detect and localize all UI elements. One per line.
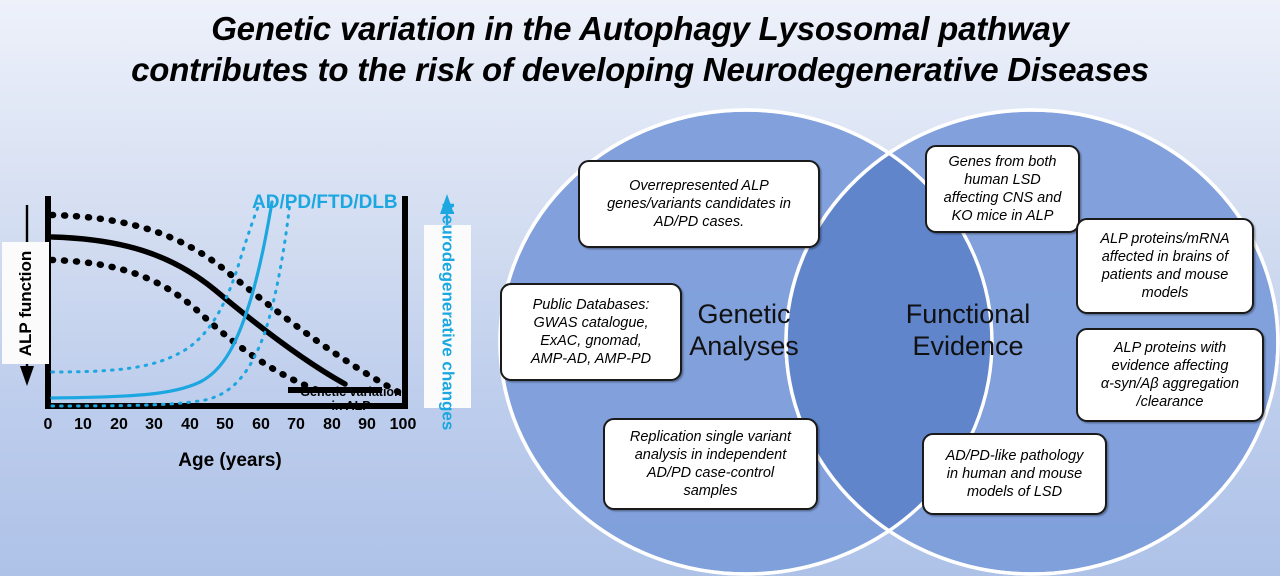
alp-function-chart: AD/PD/FTD/DLB Genetic variation in ALP A…	[0, 150, 470, 495]
chart-x-axis-title: Age (years)	[120, 450, 340, 472]
figure-root: Genetic variation in the Autophagy Lysos…	[0, 0, 1280, 576]
x-tick-70: 70	[276, 416, 316, 434]
note-alp-proteins-mrna-brains: ALP proteins/mRNA affected in brains of …	[1076, 218, 1254, 314]
note-replication-single-variant: Replication single variant analysis in i…	[603, 418, 818, 510]
x-tick-80: 80	[312, 416, 352, 434]
chart-plot-svg	[0, 150, 470, 495]
title-line-2: contributes to the risk of developing Ne…	[0, 49, 1280, 90]
x-tick-20: 20	[99, 416, 139, 434]
title-line-1: Genetic variation in the Autophagy Lysos…	[0, 8, 1280, 49]
down-arrow-icon	[20, 366, 34, 386]
note-alp-proteins-aggregation: ALP proteins with evidence affecting α-s…	[1076, 328, 1264, 422]
x-tick-100: 100	[383, 416, 423, 434]
x-tick-30: 30	[134, 416, 174, 434]
x-tick-60: 60	[241, 416, 281, 434]
venn-diagram: Genetic Analyses Functional Evidence Ove…	[498, 108, 1280, 576]
neurodegen-early-curve	[52, 202, 260, 372]
page-title: Genetic variation in the Autophagy Lysos…	[0, 8, 1280, 90]
x-tick-90: 90	[347, 416, 387, 434]
alp-lower-bound-curve	[52, 260, 320, 391]
note-overrepresented-alp-genes: Overrepresented ALP genes/variants candi…	[578, 160, 820, 248]
x-tick-0: 0	[28, 416, 68, 434]
note-public-databases: Public Databases: GWAS catalogue, ExAC, …	[500, 283, 682, 381]
note-adpd-like-pathology: AD/PD-like pathology in human and mouse …	[922, 433, 1107, 515]
genetic-variation-annotation: Genetic variation in ALP	[296, 385, 406, 413]
chart-series-legend: AD/PD/FTD/DLB	[252, 192, 398, 214]
x-tick-40: 40	[170, 416, 210, 434]
neurodegen-late-curve	[52, 202, 290, 406]
alp-function-axis-label-text: ALP function	[16, 250, 35, 355]
x-tick-10: 10	[63, 416, 103, 434]
venn-label-functional-evidence: Functional Evidence	[894, 298, 1042, 362]
note-genes-from-human-lsd: Genes from both human LSD affecting CNS …	[925, 145, 1080, 233]
x-tick-50: 50	[205, 416, 245, 434]
alp-function-axis-label: ALP function	[2, 242, 49, 364]
neurodegenerative-axis-label: Neurodegenerative changes	[424, 225, 471, 408]
venn-label-genetic-analyses: Genetic Analyses	[676, 298, 812, 362]
neurodegenerative-axis-label-text: Neurodegenerative changes	[438, 203, 457, 431]
